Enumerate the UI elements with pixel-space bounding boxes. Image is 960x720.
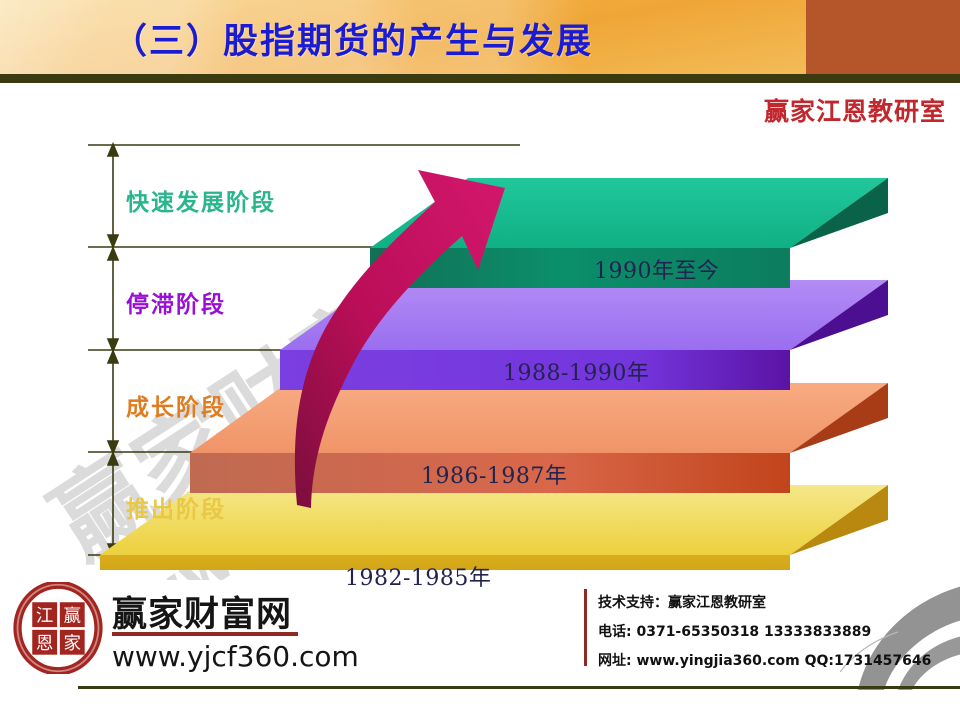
stage-label-launch: 推出阶段 (126, 490, 226, 524)
footer-web-line: 网址: www.yingjia360.com QQ:1731457646 (598, 650, 931, 670)
header-brown-panel (806, 0, 960, 74)
footer-support-line: 技术支持：赢家江恩教研室 (598, 592, 766, 612)
seal-char-4: 家 (64, 634, 81, 654)
block-label-1986-1987: 1986-1987年 (421, 458, 567, 490)
slide-header: （三）股指期货的产生与发展 (0, 0, 960, 74)
stage-label-rapid-growth: 快速发展阶段 (126, 183, 276, 217)
slide-footer: 江 赢 恩 家 赢家财富网 www.yjcf360.com 技术支持：赢家江恩教… (0, 570, 960, 720)
footer-bottom-rule (78, 686, 960, 689)
stage-label-stagnation: 停滞阶段 (126, 285, 226, 319)
footer-brand-rule (112, 632, 298, 636)
footer-brand-name: 赢家财富网 (112, 586, 292, 637)
seal-char-2: 赢 (64, 606, 81, 627)
footer-phone-line: 电话: 0371-65350318 13333833889 (598, 621, 871, 641)
seal-char-3: 恩 (36, 634, 53, 654)
seal-char-1: 江 (36, 607, 53, 627)
stage-label-growth: 成长阶段 (126, 388, 226, 422)
page-title: （三）股指期货的产生与发展 (112, 9, 792, 67)
slide: （三）股指期货的产生与发展 赢家江恩教研室 赢家财富网 www.yingjia3… (0, 0, 960, 720)
footer-vertical-divider (584, 589, 587, 666)
footer-brand-url[interactable]: www.yjcf360.com (112, 640, 359, 673)
brand-subtitle: 赢家江恩教研室 (764, 92, 946, 128)
block-label-1990-now: 1990年至今 (594, 253, 720, 285)
seal-logo-icon: 江 赢 恩 家 (12, 582, 104, 674)
header-divider-rule-light (0, 83, 960, 85)
stairs-diagram: 快速发展阶段 停滞阶段 成长阶段 推出阶段 1990年至今 1988-1990年… (0, 130, 960, 570)
header-divider-rule (0, 74, 960, 83)
block-label-1988-1990: 1988-1990年 (503, 355, 649, 387)
